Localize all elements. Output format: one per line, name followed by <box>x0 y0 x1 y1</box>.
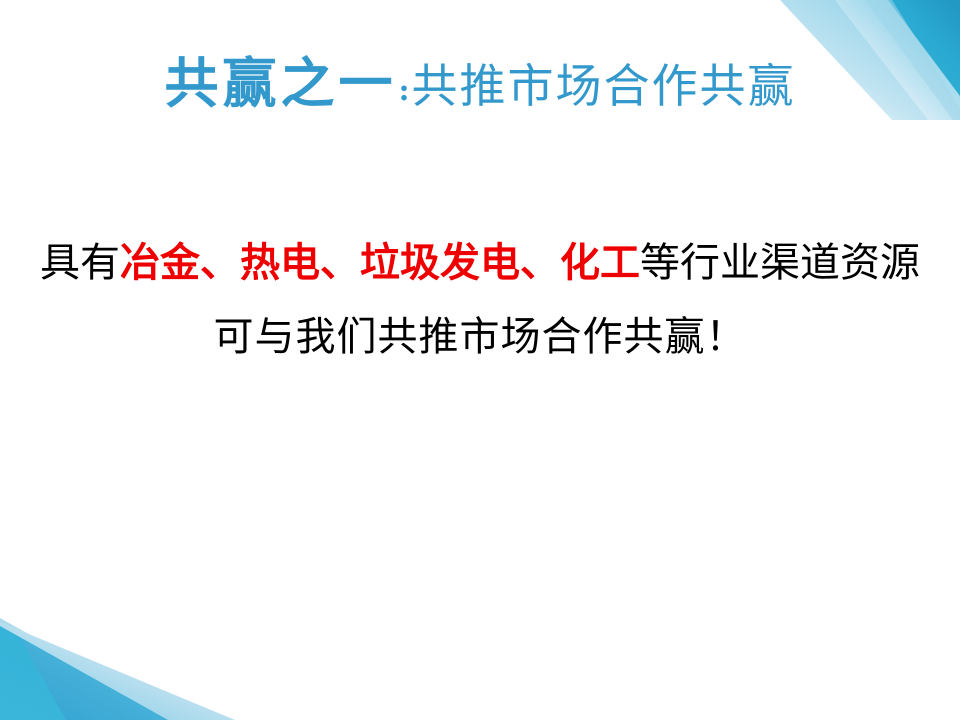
title-main-text: 共赢之一 <box>164 51 396 115</box>
body-line-1-segment-suffix: 等行业渠道资源 <box>640 241 920 285</box>
body-line-1-segment-highlight: 冶金、热电、垃圾发电、化工 <box>120 241 640 285</box>
diagonal-ribbon-bottom-left <box>0 600 300 720</box>
slide-body: 具有冶金、热电、垃圾发电、化工等行业渠道资源 可与我们共推市场合作共赢！ <box>0 243 960 357</box>
body-line-2: 可与我们共推市场合作共赢！ <box>0 317 960 357</box>
body-line-1: 具有冶金、热电、垃圾发电、化工等行业渠道资源 <box>0 243 960 283</box>
slide-title: 共赢之一:共推市场合作共赢 <box>0 56 960 110</box>
title-subtitle-text: 共推市场合作共赢 <box>412 59 796 113</box>
body-line-1-segment-prefix: 具有 <box>40 241 120 285</box>
slide-canvas: 共赢之一:共推市场合作共赢 具有冶金、热电、垃圾发电、化工等行业渠道资源 可与我… <box>0 0 960 720</box>
title-separator: : <box>396 73 411 108</box>
